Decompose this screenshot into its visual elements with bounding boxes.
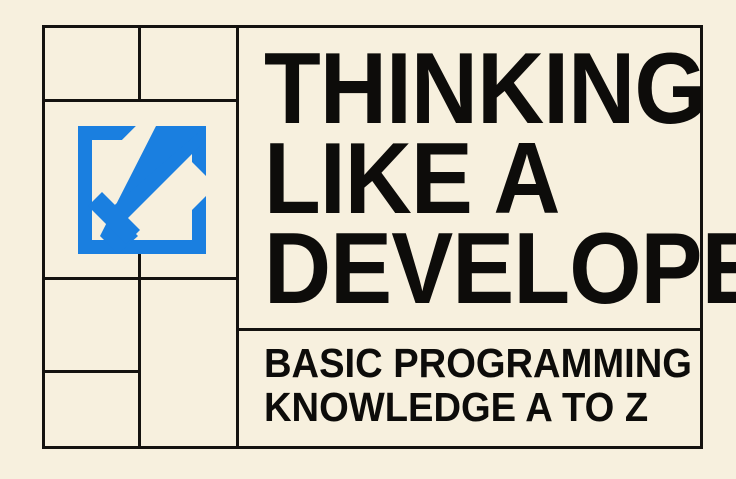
logo-cell	[42, 99, 242, 278]
title-line-3: DEVELOPER	[264, 224, 660, 314]
frame-bottom-rule	[42, 446, 703, 449]
poster-subtitle: BASIC PROGRAMMING KNOWLEDGE A TO Z	[264, 341, 694, 429]
poster-canvas: THINKING LIKE A DEVELOPER BASIC PROGRAMM…	[0, 0, 736, 479]
subtitle-line-1: BASIC PROGRAMMING	[264, 341, 664, 385]
subtitle-line-2: KNOWLEDGE A TO Z	[264, 385, 664, 429]
poster-title: THINKING LIKE A DEVELOPER	[264, 33, 694, 323]
frame-left-inner-vertical-bottom	[138, 253, 141, 449]
frame-subtitle-divider	[236, 328, 703, 331]
bracket-arrow-logo-icon	[78, 126, 206, 254]
frame-top-rule	[42, 25, 703, 28]
title-line-1: THINKING	[264, 44, 660, 134]
frame-left-rule-lower	[42, 370, 141, 373]
frame-left-inner-vertical-top	[138, 25, 141, 102]
title-line-2: LIKE A	[264, 134, 660, 224]
